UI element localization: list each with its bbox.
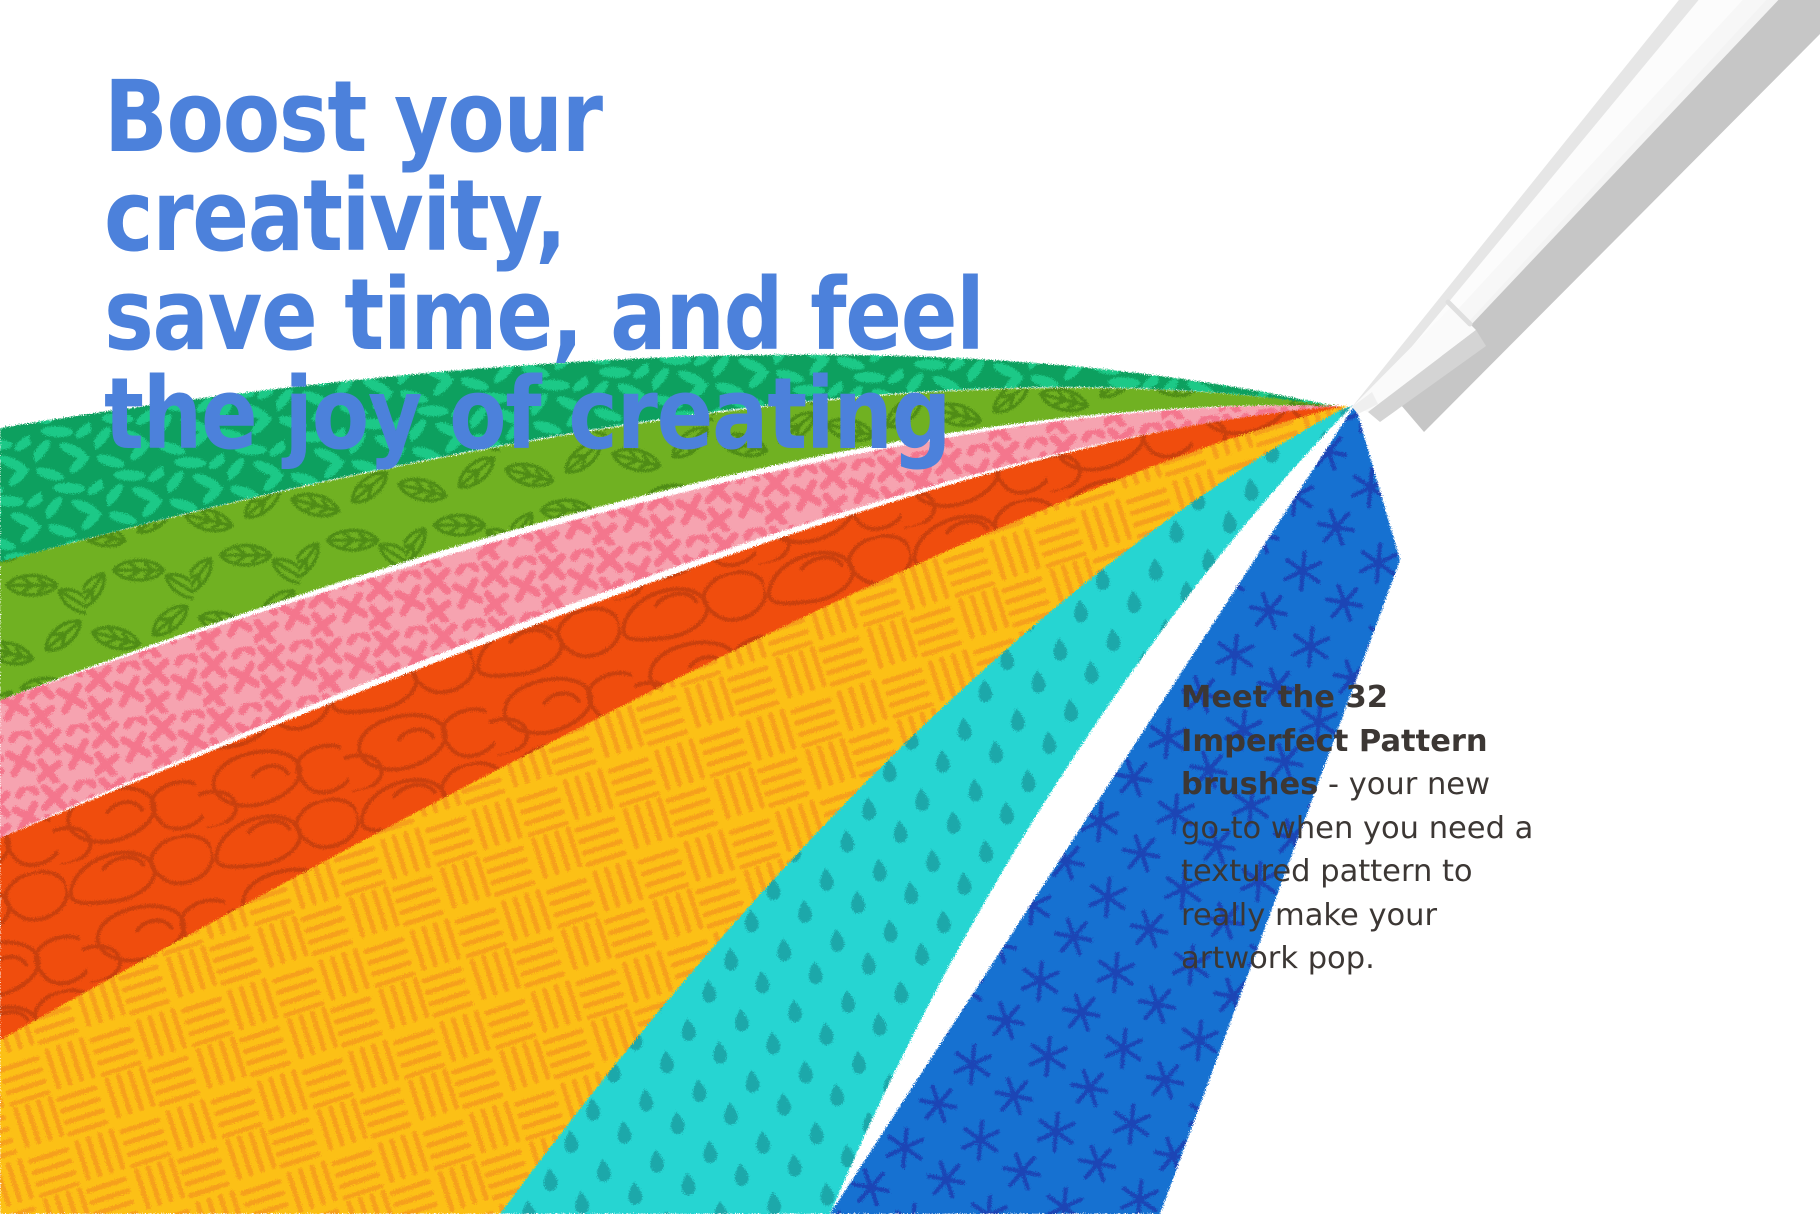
rainbow-brush-artwork	[0, 0, 1820, 1214]
promo-canvas: Boost your creativity, save time, and fe…	[0, 0, 1820, 1214]
body-copy: Meet the 32 Imperfect Pattern brushes - …	[1181, 676, 1541, 981]
stylus-pencil	[1352, 0, 1820, 432]
